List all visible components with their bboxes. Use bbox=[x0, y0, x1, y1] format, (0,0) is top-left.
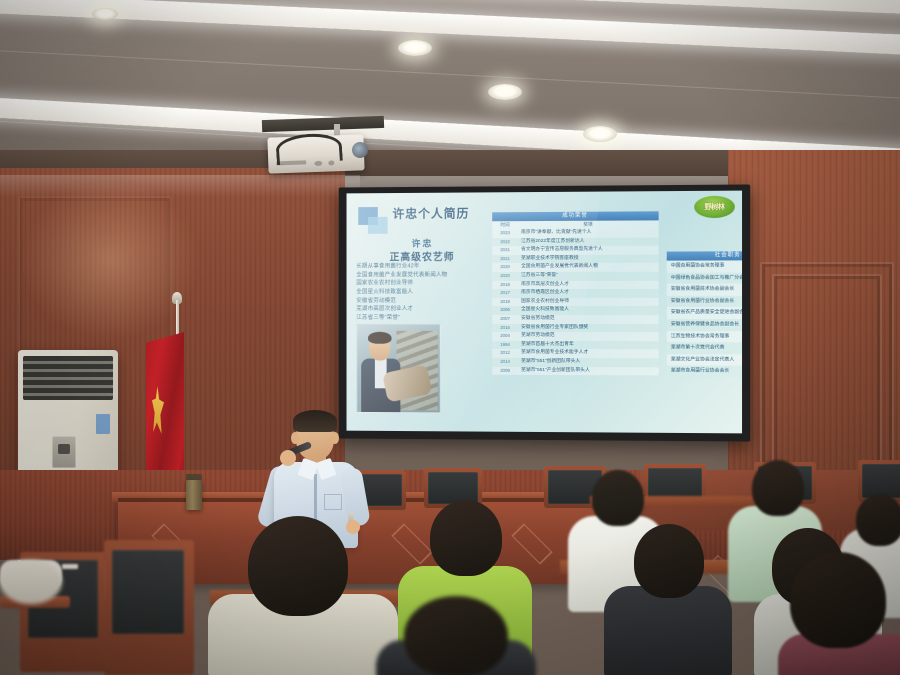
ceiling-seam bbox=[0, 47, 900, 106]
projection-screen: 许忠个人简历 野树林 许忠 正高级农艺师 长期从事食用菌行业42年全国食用菌产业… bbox=[339, 184, 750, 441]
wall-highlight bbox=[0, 175, 360, 197]
position-item: 安徽省食用菌技术协会副会长 bbox=[667, 284, 742, 296]
speaker-ear bbox=[331, 432, 339, 444]
position-item: 安徽省营养保健食品协会副会长 bbox=[667, 319, 742, 331]
attendee-back-left-head bbox=[0, 560, 62, 604]
speaker-ear bbox=[291, 432, 299, 444]
ac-brand-icon bbox=[58, 444, 70, 454]
brand-logo-text: 野树林 bbox=[705, 202, 725, 212]
ac-vent-grille bbox=[23, 356, 113, 400]
panel-diamond-decor bbox=[391, 523, 432, 564]
position-item: 安徽省农产品质量安全促进会副会长 bbox=[667, 307, 742, 319]
position-item: 安徽省食用菌行业协会副会长 bbox=[667, 296, 742, 308]
screen-glare bbox=[347, 191, 613, 434]
attendee-center-dark-head bbox=[634, 524, 704, 598]
downlight-icon bbox=[583, 126, 617, 142]
position-item: 芜湖市第十次党代会代表 bbox=[667, 342, 742, 354]
position-item: 芜湖文化产业协会法定代表人 bbox=[667, 354, 742, 366]
attendee-green-shirt-head bbox=[430, 500, 502, 576]
speaker-hand bbox=[346, 520, 360, 534]
attendee-bottom-center-head bbox=[404, 596, 508, 675]
ac-energy-label bbox=[96, 414, 110, 434]
thermos-cup[interactable] bbox=[186, 480, 202, 510]
attendee-center-dark-torso bbox=[604, 586, 732, 675]
screen-surface: 许忠个人简历 野树林 许忠 正高级农艺师 长期从事食用菌行业42年全国食用菌产业… bbox=[347, 191, 743, 434]
speaker-hair bbox=[293, 410, 337, 432]
attendee-front-left-head bbox=[248, 516, 348, 616]
downlight-icon bbox=[398, 40, 432, 56]
projector-lens-icon bbox=[352, 142, 368, 158]
presentation-slide: 许忠个人简历 野树林 许忠 正高级农艺师 长期从事食用菌行业42年全国食用菌产业… bbox=[347, 191, 743, 434]
panel-diamond-decor bbox=[511, 523, 552, 564]
ceiling-light-strip bbox=[0, 0, 900, 61]
conference-hall-photo: 许忠个人简历 野树林 许忠 正高级农艺师 长期从事食用菌行业42年全国食用菌产业… bbox=[0, 0, 900, 675]
position-item: 江苏生物技术协会常务理事 bbox=[667, 331, 742, 343]
downlight-icon bbox=[92, 8, 118, 20]
position-item: 中国食用菌协会常务理事 bbox=[667, 260, 742, 272]
attendee-bottom-right-head bbox=[790, 552, 886, 648]
attendee-white-shirt-head bbox=[592, 470, 644, 526]
positions-table-header: 社会职务 bbox=[667, 251, 742, 261]
position-item: 芜湖市食用菌行业协会会长 bbox=[667, 366, 742, 378]
positions-table: 社会职务 中国食用菌协会常务理事中国绿色食品协会加工与推广分会副会长安徽省食用菌… bbox=[667, 251, 742, 378]
attendee-mint-shirt-head bbox=[752, 460, 804, 516]
position-item: 中国绿色食品协会加工与推广分会副会长 bbox=[667, 272, 742, 284]
attendee-far-right-head bbox=[856, 494, 900, 546]
downlight-icon bbox=[488, 84, 522, 100]
speaker-shirt-pocket bbox=[324, 494, 342, 510]
brand-logo-icon: 野树林 bbox=[694, 196, 735, 218]
speaker-hand bbox=[280, 450, 296, 466]
